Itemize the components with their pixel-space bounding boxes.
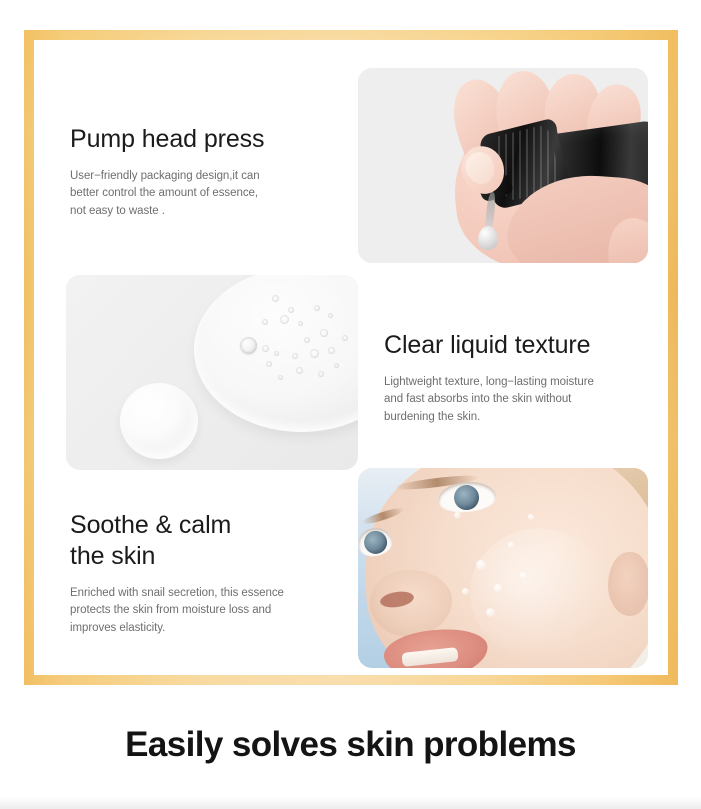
skin-dew-drop [520,572,526,578]
serum-bubble [280,315,289,324]
skin-dew-drop [454,512,461,519]
serum-bubble [272,295,279,302]
serum-bubble [328,347,335,354]
feature-block-pump: Pump head press User−friendly packaging … [70,124,308,220]
product-feature-page: Pump head press User−friendly packaging … [0,0,701,809]
serum-droplet-small [120,383,198,459]
skin-dew-drop [528,514,534,520]
feature-title-clear: Clear liquid texture [384,330,632,361]
serum-bubble [278,375,283,380]
serum-bubble [342,335,348,341]
feature-body-clear: Lightweight texture, long−lasting moistu… [384,374,632,426]
face-photo-illustration [358,468,648,668]
model-iris-left [362,529,389,556]
skin-dew-drop [462,588,469,595]
serum-bubble [296,367,303,374]
feature-title-pump: Pump head press [70,124,308,155]
skin-dew-drop [486,608,495,617]
skin-dew-drop [476,560,486,570]
serum-bubble [262,319,268,325]
skin-dew-drop [508,542,514,548]
cheek-highlight-glow [470,528,610,658]
feature-image-dewy-face [358,468,648,668]
serum-bubble [262,345,269,352]
model-iris-right [453,484,480,511]
bottom-divider-band [0,797,701,809]
serum-bubble [292,353,298,359]
serum-bubble [328,313,333,318]
feature-image-clear-liquid [66,275,358,470]
serum-bubble [320,329,328,337]
serum-bubble [298,321,303,326]
serum-bubble [266,361,272,367]
serum-bubble [314,305,320,311]
serum-bubble [318,371,324,377]
feature-image-pump-bottle [358,68,648,263]
serum-bubble [310,349,319,358]
feature-body-pump: User−friendly packaging design,it can be… [70,168,308,220]
feature-title-soothe: Soothe & calm the skin [70,510,318,572]
frame-inner-canvas: Pump head press User−friendly packaging … [34,40,668,675]
bottle-photo-illustration [358,68,648,263]
gold-border-frame: Pump head press User−friendly packaging … [24,30,678,685]
model-ear [608,552,648,616]
serum-bubble-large [240,337,257,354]
skin-dew-drop [494,584,502,592]
bottom-headline: Easily solves skin problems [0,725,701,765]
essence-drop-bead [478,226,498,250]
serum-bubble [288,307,294,313]
feature-block-soothe: Soothe & calm the skin Enriched with sna… [70,510,318,637]
serum-bubble [274,351,279,356]
serum-bubble [334,363,339,368]
liquid-photo-illustration [66,275,358,470]
feature-block-clear: Clear liquid texture Lightweight texture… [384,330,632,426]
feature-body-soothe: Enriched with snail secretion, this esse… [70,585,318,637]
serum-bubble [304,337,310,343]
